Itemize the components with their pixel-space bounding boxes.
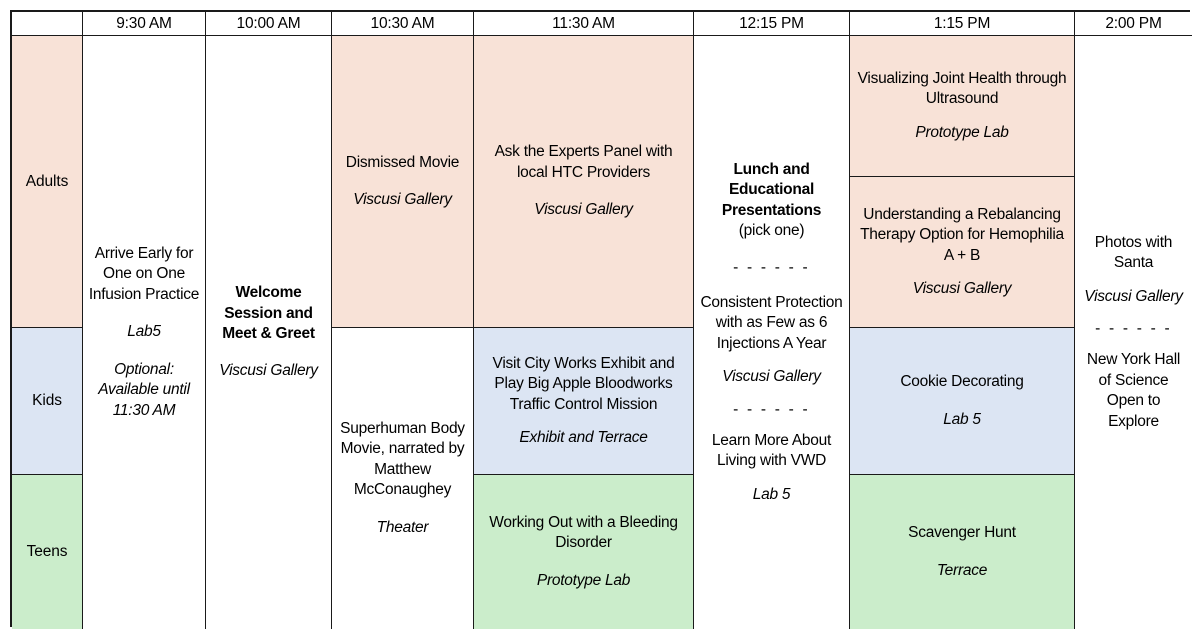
option-divider: - - - - - - (733, 401, 810, 418)
session-title: Visit City Works Exhibit and Play Big Ap… (479, 354, 688, 415)
session-venue: Viscusi Gallery (353, 190, 451, 210)
row-label-kids: Kids (12, 328, 83, 475)
lunch-option-2-title: Learn More About Living with VWD (699, 431, 844, 472)
option-divider: - - - - - - (1095, 320, 1172, 337)
session-title: Understanding a Rebalancing Therapy Opti… (855, 205, 1069, 266)
session-title: Dismissed Movie (346, 153, 459, 173)
lunch-option-2-venue: Lab 5 (753, 485, 791, 505)
column-header-0200: 2:00 PM (1075, 12, 1192, 36)
session-dismissed-movie: Dismissed Movie Viscusi Gallery (332, 36, 474, 328)
session-note: Optional: Available until 11:30 AM (88, 360, 200, 421)
session-title: Scavenger Hunt (908, 523, 1016, 543)
session-second-title: New York Hall of Science Open to Explore (1080, 350, 1187, 432)
column-header-1000: 10:00 AM (206, 12, 332, 36)
session-afternoon-activities: Photos with Santa Viscusi Gallery - - - … (1075, 36, 1192, 629)
session-rebalancing-therapy: Understanding a Rebalancing Therapy Opti… (850, 177, 1075, 328)
session-lunch-and-presentations: Lunch and Educational Presentations (pic… (694, 36, 850, 629)
session-title: Ask the Experts Panel with local HTC Pro… (479, 142, 688, 183)
session-venue: Viscusi Gallery (1084, 287, 1182, 307)
session-title: Welcome Session and Meet & Greet (211, 283, 326, 344)
lunch-subheading: (pick one) (739, 221, 805, 241)
column-header-1130: 11:30 AM (474, 12, 694, 36)
lunch-option-1-title: Consistent Protection with as Few as 6 I… (699, 293, 844, 354)
schedule-table: 9:30 AM 10:00 AM 10:30 AM 11:30 AM 12:15… (10, 10, 1190, 627)
session-city-works: Visit City Works Exhibit and Play Big Ap… (474, 328, 694, 475)
session-venue: Lab5 (127, 322, 160, 342)
session-title: Working Out with a Bleeding Disorder (479, 513, 688, 554)
session-title: Photos with Santa (1080, 233, 1187, 274)
table-corner-cell (12, 12, 83, 36)
lunch-heading: Lunch and Educational Presentations (699, 160, 844, 221)
row-label-teens: Teens (12, 475, 83, 629)
session-title: Superhuman Body Movie, narrated by Matth… (337, 419, 468, 501)
session-arrive-early: Arrive Early for One on One Infusion Pra… (83, 36, 206, 629)
option-divider: - - - - - - (733, 259, 810, 276)
session-venue: Viscusi Gallery (534, 200, 632, 220)
column-header-1030: 10:30 AM (332, 12, 474, 36)
session-title: Arrive Early for One on One Infusion Pra… (88, 244, 200, 305)
session-ask-the-experts: Ask the Experts Panel with local HTC Pro… (474, 36, 694, 328)
session-cookie-decorating: Cookie Decorating Lab 5 (850, 328, 1075, 475)
session-superhuman-movie: Superhuman Body Movie, narrated by Matth… (332, 328, 474, 629)
session-venue: Exhibit and Terrace (519, 428, 647, 448)
lunch-option-1-venue: Viscusi Gallery (722, 367, 820, 387)
column-header-0930: 9:30 AM (83, 12, 206, 36)
session-venue: Viscusi Gallery (913, 279, 1011, 299)
column-header-0115: 1:15 PM (850, 12, 1075, 36)
session-venue: Lab 5 (943, 410, 981, 430)
session-venue: Viscusi Gallery (219, 361, 317, 381)
session-title: Cookie Decorating (900, 372, 1023, 392)
session-scavenger-hunt: Scavenger Hunt Terrace (850, 475, 1075, 629)
session-venue: Terrace (937, 561, 987, 581)
session-venue: Prototype Lab (915, 123, 1008, 143)
session-working-out: Working Out with a Bleeding Disorder Pro… (474, 475, 694, 629)
session-ultrasound: Visualizing Joint Health through Ultraso… (850, 36, 1075, 177)
session-venue: Prototype Lab (537, 571, 630, 591)
session-welcome: Welcome Session and Meet & Greet Viscusi… (206, 36, 332, 629)
session-venue: Theater (377, 518, 429, 538)
session-title: Visualizing Joint Health through Ultraso… (855, 69, 1069, 110)
row-label-adults: Adults (12, 36, 83, 328)
column-header-1215: 12:15 PM (694, 12, 850, 36)
